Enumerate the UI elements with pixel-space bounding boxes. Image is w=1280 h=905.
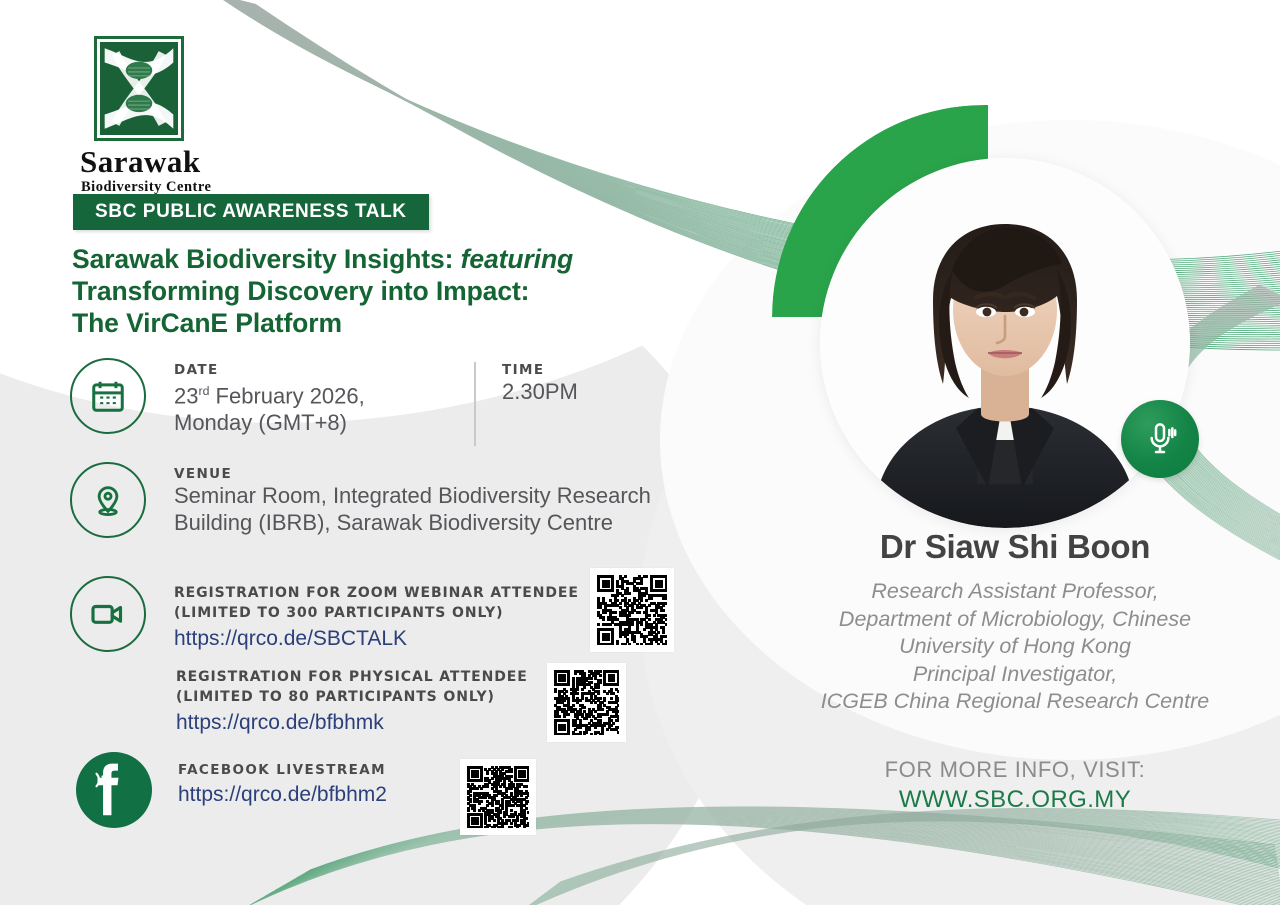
facebook-link[interactable]: https://qrco.de/bfbhm2: [178, 782, 387, 808]
date-day: 23: [174, 383, 198, 408]
speaker-affiliation: Research Assistant Professor, Department…: [760, 578, 1270, 716]
affiliation-line-1: Research Assistant Professor,: [871, 579, 1158, 603]
detail-time: TIME 2.30PM: [502, 362, 578, 405]
headline-line-1: Sarawak Biodiversity Insights:: [72, 244, 461, 274]
detail-row-zoom-registration: REGISTRATION FOR ZOOM WEBINAR ATTENDEE (…: [70, 576, 579, 652]
affiliation-line-2: Department of Microbiology, Chinese: [839, 607, 1191, 631]
divider: [474, 362, 476, 446]
qr-physical-registration[interactable]: [547, 663, 626, 742]
speaker-name: Dr Siaw Shi Boon: [780, 528, 1250, 566]
date-label: DATE: [174, 362, 365, 378]
zoom-registration-line-1: REGISTRATION FOR ZOOM WEBINAR ATTENDEE: [174, 584, 579, 604]
headline-featuring: featuring: [461, 244, 573, 274]
zoom-registration-link[interactable]: https://qrco.de/SBCTALK: [174, 626, 579, 652]
qr-facebook-livestream[interactable]: [460, 759, 536, 835]
affiliation-line-4: Principal Investigator,: [913, 662, 1117, 686]
venue-line-2: Building (IBRB), Sarawak Biodiversity Ce…: [174, 510, 613, 535]
venue-label: VENUE: [174, 466, 651, 482]
headline-line-2: Transforming Discovery into Impact:: [72, 276, 529, 306]
detail-row-physical-registration: REGISTRATION FOR PHYSICAL ATTENDEE (LIMI…: [176, 668, 528, 736]
detail-row-facebook: FACEBOOK LIVESTREAM https://qrco.de/bfbh…: [76, 752, 387, 828]
time-label: TIME: [502, 362, 578, 378]
date-day-suffix: rd: [198, 384, 209, 398]
status-badge: SBC PUBLIC AWARENESS TALK: [73, 194, 429, 230]
facebook-label: FACEBOOK LIVESTREAM: [178, 762, 387, 778]
more-info-label: FOR MORE INFO, VISIT:: [790, 757, 1240, 783]
sbc-logo: Sarawak Biodiversity Centre: [74, 36, 254, 196]
logo-mark-icon: [94, 36, 184, 141]
facebook-live-icon: [76, 752, 152, 828]
microphone-icon: [1121, 400, 1199, 478]
venue-value: Seminar Room, Integrated Biodiversity Re…: [174, 482, 651, 536]
headline-line-3: The VirCanE Platform: [72, 308, 342, 338]
logo-wordmark-primary: Sarawak: [80, 145, 254, 179]
time-value: 2.30PM: [502, 378, 578, 405]
detail-row-date: DATE 23rd February 2026, Monday (GMT+8): [70, 358, 365, 436]
calendar-icon: [70, 358, 146, 434]
location-pin-icon: [70, 462, 146, 538]
avatar: [820, 158, 1190, 528]
physical-registration-line-2: (LIMITED TO 80 PARTICIPANTS ONLY): [176, 688, 528, 708]
affiliation-line-3: University of Hong Kong: [899, 634, 1131, 658]
video-camera-icon: [70, 576, 146, 652]
date-weekday-tz: Monday (GMT+8): [174, 410, 347, 435]
detail-row-venue: VENUE Seminar Room, Integrated Biodivers…: [70, 462, 651, 538]
physical-registration-line-1: REGISTRATION FOR PHYSICAL ATTENDEE: [176, 668, 528, 688]
website-link[interactable]: WWW.SBC.ORG.MY: [790, 786, 1240, 814]
venue-line-1: Seminar Room, Integrated Biodiversity Re…: [174, 483, 651, 508]
zoom-registration-line-2: (LIMITED TO 300 PARTICIPANTS ONLY): [174, 604, 579, 624]
affiliation-line-5: ICGEB China Regional Research Centre: [821, 689, 1209, 713]
date-month-year: February 2026,: [209, 383, 364, 408]
date-value: 23rd February 2026, Monday (GMT+8): [174, 378, 365, 436]
physical-registration-link[interactable]: https://qrco.de/bfbhmk: [176, 710, 528, 736]
qr-zoom-registration[interactable]: [590, 568, 674, 652]
event-poster: Sarawak Biodiversity Centre SBC PUBLIC A…: [0, 0, 1280, 905]
page-title: Sarawak Biodiversity Insights: featuring…: [72, 243, 712, 339]
